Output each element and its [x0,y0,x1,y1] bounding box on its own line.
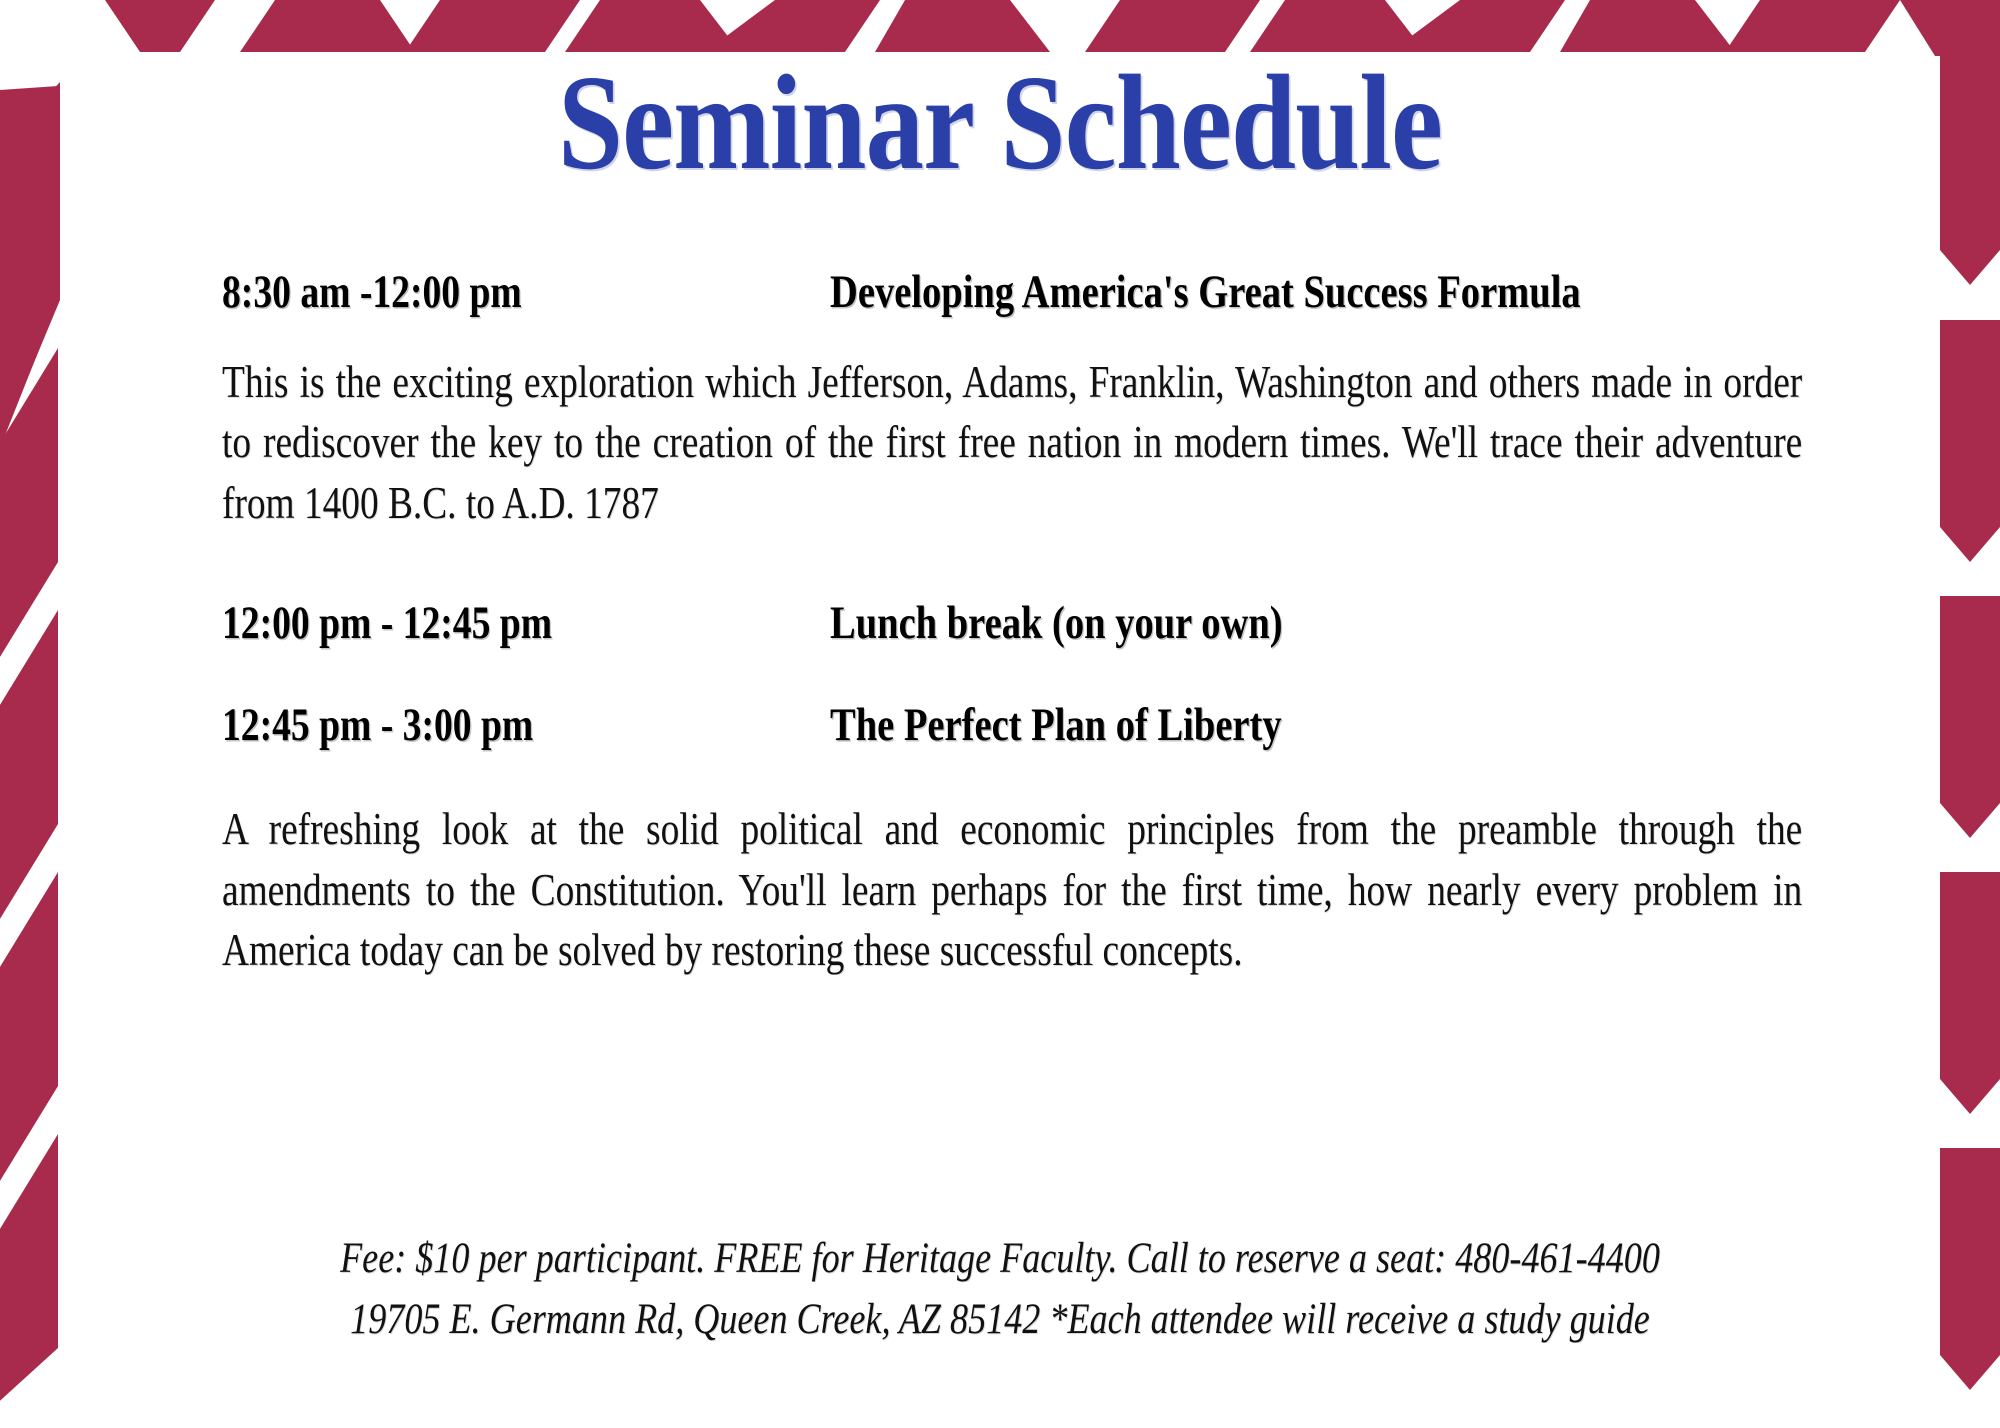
session-title: The Perfect Plan of Liberty [830,695,1627,755]
schedule-body: 8:30 am -12:00 pm Developing America's G… [222,262,1802,980]
page-title: Seminar Schedule [140,54,1860,193]
session-time: 8:30 am -12:00 pm [222,262,708,322]
schedule-row: 12:00 pm - 12:45 pm Lunch break (on your… [222,593,1802,653]
footer-line-address: 19705 E. Germann Rd, Queen Creek, AZ 851… [160,1289,1840,1350]
session-description: This is the exciting exploration which J… [222,352,1802,533]
footer: Fee: $10 per participant. FREE for Herit… [0,1228,2000,1350]
schedule-row: 8:30 am -12:00 pm Developing America's G… [222,262,1802,322]
footer-line-fee: Fee: $10 per participant. FREE for Herit… [160,1228,1840,1289]
flyer-content: Seminar Schedule 8:30 am -12:00 pm Devel… [0,0,2000,1428]
session-time: 12:00 pm - 12:45 pm [222,593,708,653]
session-time: 12:45 pm - 3:00 pm [222,695,708,755]
schedule-row: 12:45 pm - 3:00 pm The Perfect Plan of L… [222,695,1802,755]
session-title: Developing America's Great Success Formu… [830,262,1627,322]
session-description: A refreshing look at the solid political… [222,799,1802,980]
session-title: Lunch break (on your own) [830,593,1627,653]
seminar-flyer: Seminar Schedule 8:30 am -12:00 pm Devel… [0,0,2000,1428]
